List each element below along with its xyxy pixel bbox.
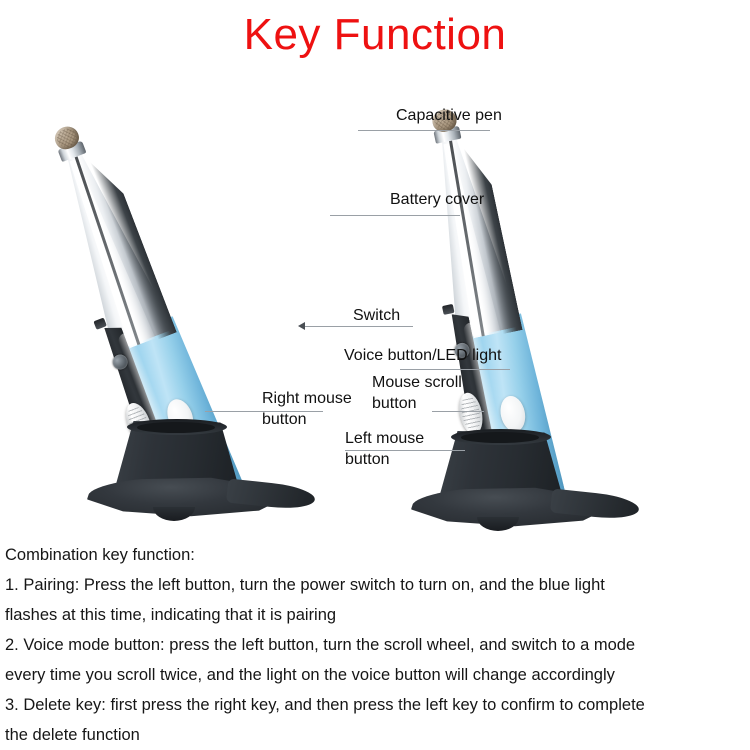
callout-left-mouse-button: Left mouse button xyxy=(345,428,424,470)
callout-right-mouse-line1: Right mouse xyxy=(262,390,352,407)
pen-dock-right xyxy=(411,431,641,541)
description-line-4: every time you scroll twice, and the lig… xyxy=(5,660,747,690)
power-switch[interactable] xyxy=(442,304,455,315)
description-heading: Combination key function: xyxy=(5,540,747,570)
product-infographic: Key Function xyxy=(0,0,750,750)
description-line-3: 2. Voice mode button: press the left but… xyxy=(5,630,747,660)
description-line-5: 3. Delete key: first press the right key… xyxy=(5,690,747,720)
description-line-1: 1. Pairing: Press the left button, turn … xyxy=(5,570,747,600)
leader-capacitive-pen xyxy=(358,130,490,131)
description-line-6: the delete function xyxy=(5,720,747,750)
callout-switch: Switch xyxy=(353,305,400,326)
callout-mouse-scroll-line2: button xyxy=(372,393,462,414)
description-line-2: flashes at this time, indicating that it… xyxy=(5,600,747,630)
leader-arrow-switch xyxy=(298,322,305,330)
callout-capacitive-pen: Capacitive pen xyxy=(396,105,502,126)
pen-dock-left xyxy=(87,421,317,531)
leader-voice-button-led xyxy=(400,369,510,370)
dock-cup-hole xyxy=(137,422,215,433)
dock-foot xyxy=(477,517,519,531)
leader-battery-cover xyxy=(330,215,460,216)
page-title: Key Function xyxy=(0,8,750,62)
leader-switch xyxy=(305,326,413,327)
callout-mouse-scroll-button: Mouse scroll button xyxy=(372,372,462,414)
dock-cup-hole xyxy=(461,432,539,443)
pen-left xyxy=(75,95,335,545)
pen-right xyxy=(395,95,655,545)
callout-mouse-scroll-line1: Mouse scroll xyxy=(372,374,462,391)
callout-right-mouse-button: Right mouse button xyxy=(262,388,352,430)
callout-voice-button-led: Voice button/LED light xyxy=(344,345,501,366)
dock-foot xyxy=(153,507,195,521)
callout-left-mouse-line1: Left mouse xyxy=(345,430,424,447)
callout-battery-cover: Battery cover xyxy=(390,189,484,210)
callout-right-mouse-line2: button xyxy=(262,409,352,430)
callout-left-mouse-line2: button xyxy=(345,449,424,470)
description-block: Combination key function: 1. Pairing: Pr… xyxy=(5,540,747,750)
